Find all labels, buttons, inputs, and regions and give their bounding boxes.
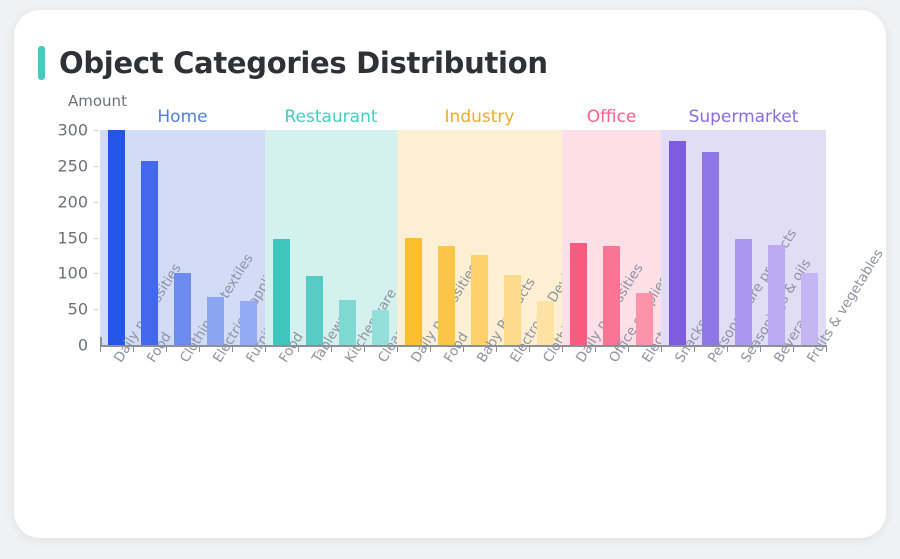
y-axis-tick-label: 0 <box>42 336 88 355</box>
y-axis-tick-label: 200 <box>42 192 88 211</box>
y-axis-tick-mark <box>94 166 98 167</box>
group-label-home: Home <box>157 107 207 127</box>
group-label-supermarket: Supermarket <box>689 107 799 127</box>
y-axis-tick-mark <box>94 238 98 239</box>
bar[interactable] <box>801 273 818 345</box>
bar[interactable] <box>405 238 422 346</box>
y-axis-tick-label: 250 <box>42 156 88 175</box>
bar[interactable] <box>273 239 290 345</box>
screenshot-root: Object Categories Distribution Amount050… <box>0 0 900 559</box>
group-label-industry: Industry <box>445 107 515 127</box>
chart-card: Object Categories Distribution Amount050… <box>14 10 886 538</box>
y-axis-tick-label: 100 <box>42 264 88 283</box>
bar[interactable] <box>504 275 521 345</box>
bar[interactable] <box>141 161 158 345</box>
y-axis-tick-mark <box>94 309 98 310</box>
bar[interactable] <box>108 130 125 345</box>
bar[interactable] <box>174 273 191 345</box>
y-axis-tick-label: 50 <box>42 300 88 319</box>
bar[interactable] <box>669 141 686 345</box>
bar[interactable] <box>570 243 587 345</box>
bar-chart: Amount050100150200250300HomeDaily necess… <box>14 10 886 538</box>
bar[interactable] <box>735 239 752 345</box>
x-axis-line <box>100 345 827 347</box>
y-axis-tick-mark <box>94 130 98 131</box>
group-label-office: Office <box>587 107 637 127</box>
y-axis-tick-label: 150 <box>42 228 88 247</box>
bar[interactable] <box>438 246 455 345</box>
bar[interactable] <box>603 246 620 345</box>
bar[interactable] <box>306 276 323 345</box>
y-axis-tick-label: 300 <box>42 121 88 140</box>
group-label-restaurant: Restaurant <box>284 107 377 127</box>
y-axis-tick-mark <box>94 202 98 203</box>
bar[interactable] <box>471 255 488 345</box>
y-axis-line <box>100 337 102 346</box>
y-axis-tick-mark <box>94 273 98 274</box>
bar[interactable] <box>768 245 785 345</box>
y-axis-label: Amount <box>68 92 127 110</box>
bar[interactable] <box>702 152 719 346</box>
